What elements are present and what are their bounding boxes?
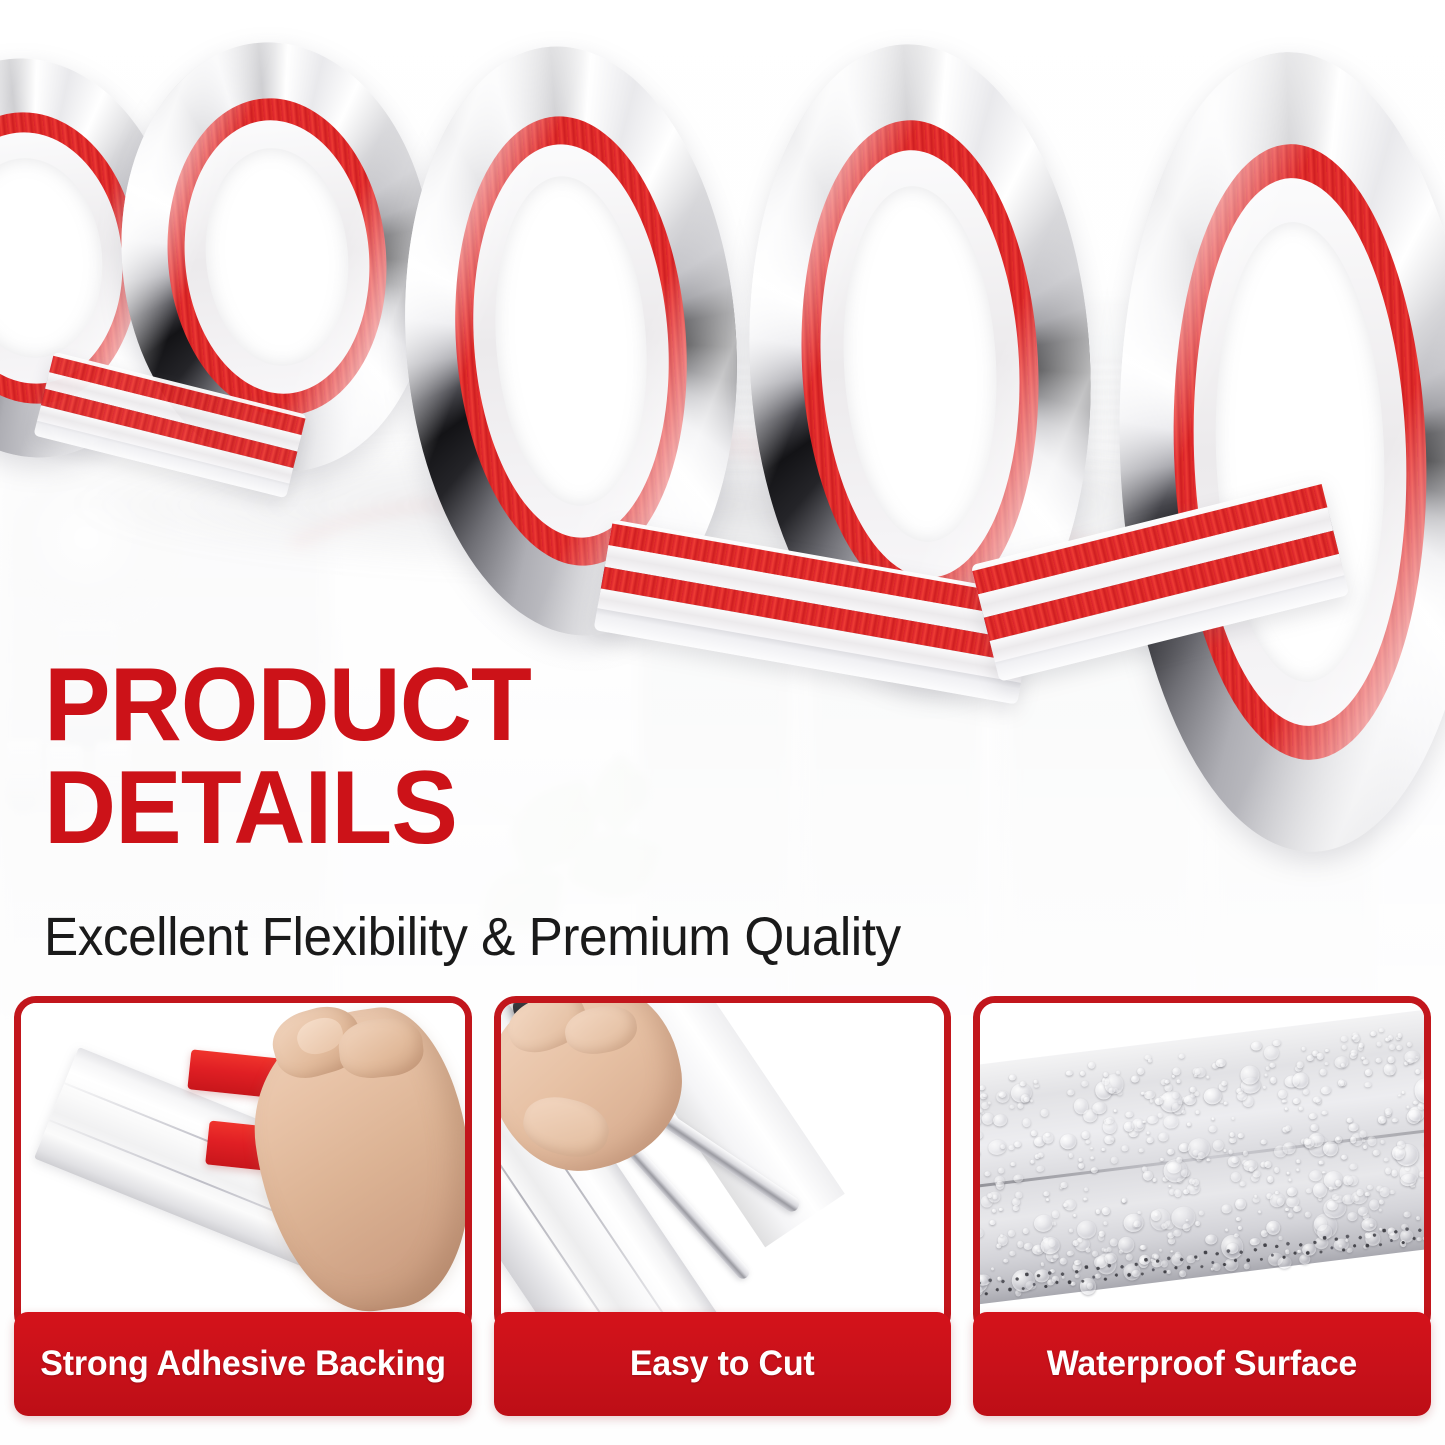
water-droplet <box>1229 1136 1237 1143</box>
hand-peel-adhesive-icon <box>21 1003 465 1329</box>
water-droplet <box>1319 1160 1324 1165</box>
water-droplet <box>1069 1153 1074 1158</box>
water-droplet <box>1102 1119 1118 1136</box>
water-droplet <box>1187 1122 1191 1126</box>
water-droplet <box>1023 1228 1030 1235</box>
water-droplet <box>1311 1124 1319 1132</box>
water-droplet <box>1341 1154 1348 1160</box>
water-droplet <box>1273 1145 1288 1159</box>
water-droplet <box>1370 1031 1377 1038</box>
water-droplet <box>1309 1113 1318 1120</box>
water-droplet <box>1104 1135 1116 1145</box>
water-droplet <box>1357 1045 1363 1051</box>
feature-photo-frame <box>14 996 472 1336</box>
water-droplet <box>1317 1053 1325 1060</box>
water-droplet <box>1377 1041 1383 1047</box>
water-droplet <box>1363 1144 1368 1149</box>
water-droplet <box>1226 1228 1229 1231</box>
water-droplet <box>1022 1118 1032 1128</box>
water-droplet <box>1184 1094 1197 1105</box>
water-droplet <box>996 1243 1002 1248</box>
water-droplet <box>1088 1061 1096 1069</box>
feature-caption-text: Waterproof Surface <box>1047 1344 1357 1384</box>
water-droplet <box>1036 1165 1044 1172</box>
water-droplet <box>1238 1225 1242 1230</box>
water-droplet <box>1003 1258 1008 1263</box>
water-droplet <box>1229 1150 1234 1155</box>
water-droplet <box>984 1171 991 1177</box>
water-droplet <box>1187 1137 1211 1161</box>
water-droplet <box>1270 1192 1286 1208</box>
water-droplet <box>1285 1125 1292 1132</box>
water-droplet <box>1267 1175 1274 1183</box>
water-droplet <box>1243 1151 1249 1156</box>
chrome-surface <box>980 1005 1424 1307</box>
water-droplet <box>1325 1048 1330 1052</box>
water-droplet <box>1196 1110 1200 1114</box>
water-droplet <box>1375 1057 1382 1063</box>
water-droplet <box>1396 1045 1403 1051</box>
water-droplet <box>1031 1130 1038 1136</box>
water-droplet <box>1091 1156 1096 1160</box>
water-droplet <box>1174 1189 1183 1198</box>
water-droplet <box>1385 1037 1391 1042</box>
water-droplet <box>1010 1251 1016 1256</box>
water-droplet <box>1031 1160 1036 1165</box>
water-droplet <box>1207 1158 1211 1162</box>
water-droplet <box>1070 1229 1074 1233</box>
water-droplet <box>1042 1132 1054 1145</box>
water-droplet <box>1302 1047 1307 1052</box>
page-subtitle: Excellent Flexibility & Premium Quality <box>44 906 901 968</box>
water-droplet <box>1379 1199 1385 1205</box>
water-droplet <box>1043 1191 1050 1197</box>
water-droplet <box>1116 1071 1120 1075</box>
water-droplet <box>1253 1170 1262 1178</box>
water-droplet <box>1398 1033 1403 1038</box>
water-droplet <box>980 1084 985 1090</box>
scissors-cut-icon <box>501 1003 945 1329</box>
water-droplet <box>1379 1028 1384 1033</box>
water-droplet <box>1292 1072 1310 1090</box>
page-title: PRODUCT DETAILS <box>44 654 804 860</box>
water-droplet <box>1347 1117 1354 1123</box>
headline-line-1: PRODUCT <box>44 654 774 757</box>
water-droplet <box>1334 1056 1349 1070</box>
water-droplet <box>1305 1211 1312 1217</box>
water-droplet <box>1365 1082 1372 1088</box>
water-droplet <box>1384 1157 1390 1162</box>
water-droplet <box>1103 1221 1108 1226</box>
water-droplet <box>1009 1074 1017 1081</box>
water-droplet <box>1404 1050 1420 1064</box>
water-droplet <box>1322 1110 1329 1116</box>
water-droplet <box>1349 1123 1360 1132</box>
water-droplet <box>1126 1111 1134 1118</box>
water-droplet <box>1211 1117 1215 1121</box>
water-droplet <box>1009 1145 1015 1150</box>
water-droplet <box>1168 1184 1172 1187</box>
water-droplets-icon <box>980 1003 1424 1329</box>
water-droplet <box>1206 1076 1209 1079</box>
water-droplet <box>1149 1098 1153 1102</box>
water-droplet <box>1350 1163 1358 1170</box>
water-droplet <box>1387 1056 1396 1064</box>
water-droplet <box>1384 1107 1392 1116</box>
water-droplet <box>1181 1110 1186 1115</box>
water-droplet <box>1297 1061 1305 1069</box>
water-droplet <box>1293 1205 1302 1212</box>
water-droplet <box>1288 1178 1292 1181</box>
water-droplet <box>1014 1141 1023 1149</box>
water-droplet <box>1264 1085 1267 1088</box>
water-droplet <box>1365 1191 1370 1196</box>
water-droplet <box>1240 1181 1246 1186</box>
water-droplet <box>1379 1209 1383 1212</box>
water-droplet <box>988 1101 992 1105</box>
water-droplet <box>1081 1080 1089 1087</box>
water-droplet <box>1146 1137 1154 1144</box>
water-droplet <box>992 1209 997 1214</box>
feature-caption-text: Easy to Cut <box>630 1344 815 1384</box>
water-droplet <box>1051 1210 1060 1218</box>
feature-caption-bar: Easy to Cut <box>494 1312 952 1416</box>
water-droplet <box>1163 1158 1189 1184</box>
water-droplet <box>1367 1184 1374 1190</box>
water-droplet <box>1364 1068 1372 1076</box>
water-droplet <box>1278 1089 1288 1100</box>
feature-caption-bar: Strong Adhesive Backing <box>14 1312 472 1416</box>
water-droplet <box>1152 1177 1157 1182</box>
water-droplet <box>1080 1071 1086 1077</box>
water-droplet <box>1046 1198 1050 1201</box>
water-droplet <box>1286 1171 1290 1174</box>
water-droplet <box>1013 1205 1020 1211</box>
water-droplet <box>1167 1148 1174 1155</box>
water-droplet <box>1111 1156 1119 1164</box>
water-droplet <box>1085 1139 1090 1144</box>
water-droplet <box>1391 1169 1399 1177</box>
feature-caption-text: Strong Adhesive Backing <box>40 1344 446 1384</box>
water-droplet <box>1392 1117 1398 1122</box>
water-droplet <box>1110 1238 1119 1247</box>
water-droplet <box>980 1131 983 1139</box>
water-droplet <box>1082 1109 1098 1123</box>
water-droplet <box>1177 1079 1182 1084</box>
water-droplet <box>1137 1067 1145 1075</box>
water-droplet <box>980 1228 984 1239</box>
water-droplet <box>1194 1091 1200 1096</box>
water-droplet <box>1074 1214 1077 1217</box>
water-droplet <box>1085 1187 1090 1191</box>
water-droplet <box>1063 1202 1068 1207</box>
water-droplet <box>1269 1063 1275 1068</box>
water-droplet <box>1363 1059 1369 1065</box>
feature-card-row: Strong Adhesive Backing <box>0 996 1445 1445</box>
feature-photo-frame <box>494 996 952 1336</box>
water-droplet <box>1389 1044 1396 1051</box>
water-droplet <box>1418 1170 1424 1177</box>
water-droplet <box>1183 1189 1189 1194</box>
water-droplet <box>1282 1099 1287 1103</box>
water-droplet <box>1160 1158 1164 1162</box>
water-droplet <box>1296 1159 1301 1163</box>
water-droplet <box>1147 1115 1159 1125</box>
water-droplet <box>1131 1075 1139 1083</box>
water-droplet <box>1224 1101 1229 1105</box>
water-droplet <box>993 1114 1008 1128</box>
water-droplet <box>1114 1109 1117 1112</box>
water-droplet <box>1384 1063 1397 1076</box>
water-droplet <box>1101 1148 1106 1152</box>
water-droplet <box>1261 1139 1268 1145</box>
water-droplet <box>1407 1042 1413 1048</box>
feature-card-waterproof: Waterproof Surface <box>973 996 1431 1416</box>
water-droplet <box>1347 1211 1359 1221</box>
water-droplet <box>998 1168 1004 1174</box>
water-droplet <box>1096 1209 1101 1214</box>
feature-caption-bar: Waterproof Surface <box>973 1312 1431 1416</box>
water-droplet <box>1236 1217 1242 1222</box>
water-droplet <box>1306 1188 1312 1194</box>
water-droplet <box>1121 1145 1129 1153</box>
water-droplet <box>1367 1136 1378 1147</box>
water-droplet <box>1340 1035 1348 1042</box>
water-droplet <box>1286 1208 1290 1212</box>
water-droplet <box>1067 1250 1074 1257</box>
water-droplet <box>1293 1098 1301 1104</box>
water-droplet <box>1265 1073 1268 1076</box>
water-droplet <box>1009 1104 1015 1109</box>
water-droplet <box>1224 1149 1227 1152</box>
water-droplet <box>1228 1155 1242 1167</box>
water-droplet <box>1178 1053 1185 1058</box>
water-droplet <box>1163 1114 1179 1129</box>
water-droplet <box>1083 1197 1087 1201</box>
water-droplet <box>1373 1149 1380 1156</box>
water-droplet <box>1090 1147 1093 1150</box>
water-droplet <box>999 1207 1003 1211</box>
water-droplet <box>1171 1205 1197 1230</box>
water-droplet <box>1146 1131 1150 1134</box>
water-droplet <box>1139 1148 1144 1153</box>
water-droplet <box>1011 1162 1016 1167</box>
water-droplet <box>1066 1070 1073 1076</box>
water-droplet <box>1216 1058 1226 1067</box>
water-droplet <box>1264 1045 1280 1061</box>
water-droplet <box>1251 1041 1263 1052</box>
water-droplet <box>1324 1062 1329 1066</box>
water-droplet <box>1148 1059 1153 1064</box>
water-droplet <box>1008 1229 1015 1236</box>
product-detail-infographic: PRODUCT DETAILS Excellent Flexibility & … <box>0 0 1445 1445</box>
water-droplet <box>1321 1086 1332 1095</box>
feature-card-adhesive: Strong Adhesive Backing <box>14 996 472 1416</box>
water-droplet <box>1221 1204 1232 1213</box>
water-droplet <box>1390 1189 1395 1194</box>
water-droplet <box>1270 1076 1277 1084</box>
water-droplet <box>1199 1210 1205 1216</box>
water-droplet <box>1060 1134 1077 1150</box>
water-droplet <box>1061 1182 1068 1188</box>
water-droplet <box>1379 1187 1391 1198</box>
water-droplet <box>1398 1094 1401 1097</box>
water-droplet <box>1287 1186 1298 1196</box>
water-droplet <box>1320 1068 1328 1076</box>
water-droplet <box>1231 1117 1235 1121</box>
water-droplet <box>1085 1248 1091 1253</box>
water-droplet <box>1221 1080 1228 1086</box>
water-droplet <box>1303 1088 1310 1094</box>
water-droplet <box>1208 1125 1217 1133</box>
water-droplet <box>1040 1109 1049 1118</box>
water-droplet <box>1079 1158 1083 1162</box>
water-droplet <box>1033 1214 1054 1233</box>
water-droplet <box>1299 1107 1304 1111</box>
trim-coil-loop <box>1106 46 1445 858</box>
water-droplet <box>1091 1167 1099 1174</box>
water-droplet <box>1040 1236 1061 1255</box>
water-droplet <box>1288 1213 1294 1219</box>
water-droplet <box>1335 1136 1343 1144</box>
water-droplet <box>1415 1069 1420 1074</box>
water-droplet <box>1098 1234 1105 1241</box>
water-droplet <box>1078 1162 1085 1169</box>
water-droplet <box>1102 1207 1110 1215</box>
water-droplet <box>1296 1168 1300 1171</box>
water-droplet <box>1158 1132 1169 1142</box>
water-droplet <box>1014 1174 1025 1183</box>
water-droplet <box>1053 1222 1057 1226</box>
water-droplet <box>1235 1197 1247 1210</box>
water-droplet <box>1067 1089 1075 1096</box>
headline-line-2: DETAILS <box>44 757 774 860</box>
feature-card-cut: Easy to Cut <box>494 996 952 1416</box>
water-droplet <box>1341 1044 1347 1050</box>
water-droplet <box>1402 1090 1406 1094</box>
water-droplet <box>1173 1229 1182 1237</box>
water-droplet <box>1030 1099 1034 1103</box>
feature-photo-frame <box>973 996 1431 1336</box>
water-droplet <box>1274 1167 1280 1173</box>
water-droplet <box>1381 1140 1386 1144</box>
water-droplet <box>1238 1133 1244 1138</box>
water-droplet <box>1259 1210 1263 1214</box>
water-droplet <box>1196 1221 1201 1226</box>
water-droplet <box>1285 1107 1289 1110</box>
water-droplet <box>1158 1113 1163 1118</box>
water-droplet <box>990 1219 996 1225</box>
water-droplet <box>1081 1131 1090 1140</box>
water-droplet <box>1264 1161 1272 1169</box>
